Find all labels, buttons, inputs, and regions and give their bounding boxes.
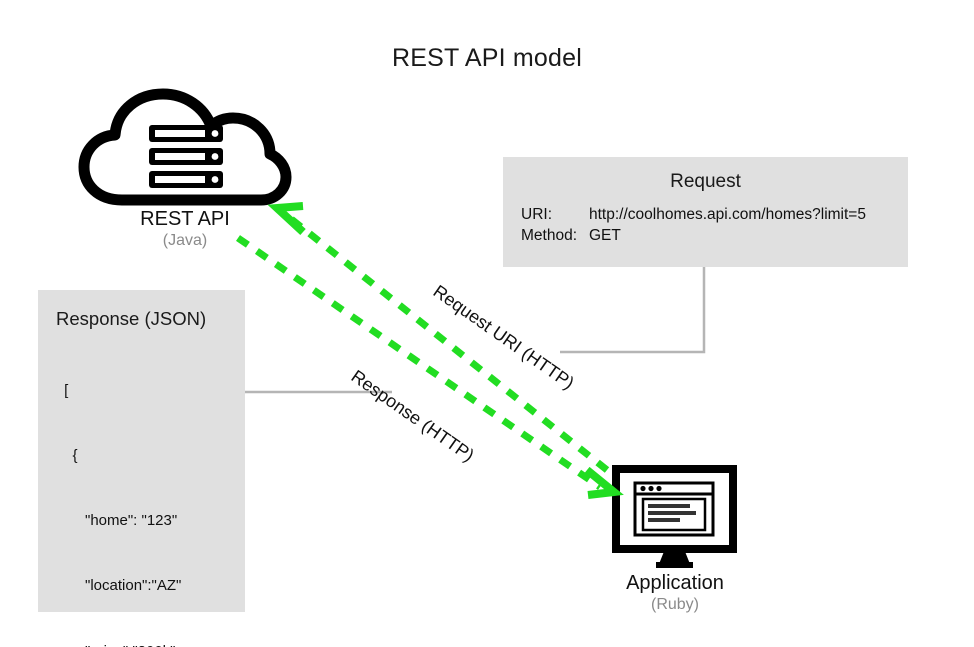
json-line: "price":"200k" (60, 641, 245, 647)
api-node-label: REST API (Java) (85, 208, 285, 251)
browser-window-glyph (635, 483, 713, 535)
api-node-name: REST API (85, 208, 285, 231)
diagram-canvas: REST API model REST API (Java) (0, 0, 974, 647)
cloud-server-icon (78, 88, 293, 206)
request-panel: Request URI: http://coolhomes.api.com/ho… (503, 157, 908, 267)
request-fields: URI: http://coolhomes.api.com/homes?limi… (521, 205, 908, 247)
request-method-row: Method: GET (521, 226, 908, 247)
app-node-label: Application (Ruby) (590, 572, 760, 615)
desktop-monitor-icon (612, 465, 737, 570)
request-callout-connector (560, 267, 704, 352)
request-method-value: GET (589, 226, 621, 247)
page-title: REST API model (0, 44, 974, 73)
json-line: "location":"AZ" (60, 575, 245, 597)
response-json-body: [ { "home": "123" "location":"AZ" "price… (60, 336, 245, 647)
app-node-sub: (Ruby) (590, 595, 760, 615)
request-method-key: Method: (521, 226, 589, 247)
json-line: [ (60, 380, 245, 402)
request-uri-row: URI: http://coolhomes.api.com/homes?limi… (521, 205, 908, 226)
app-node-name: Application (590, 572, 760, 595)
request-uri-value: http://coolhomes.api.com/homes?limit=5 (589, 205, 866, 226)
request-panel-title: Request (503, 171, 908, 193)
edge-label-request-uri: Request URI (HTTP) (429, 281, 578, 394)
json-line: { (60, 445, 245, 467)
request-uri-key: URI: (521, 205, 589, 226)
json-line: "home": "123" (60, 510, 245, 532)
response-panel-title: Response (JSON) (56, 308, 245, 330)
server-rack-glyph (149, 125, 223, 188)
edge-label-response-http: Response (HTTP) (347, 366, 478, 466)
response-panel: Response (JSON) [ { "home": "123" "locat… (38, 290, 245, 612)
api-node-sub: (Java) (85, 231, 285, 251)
